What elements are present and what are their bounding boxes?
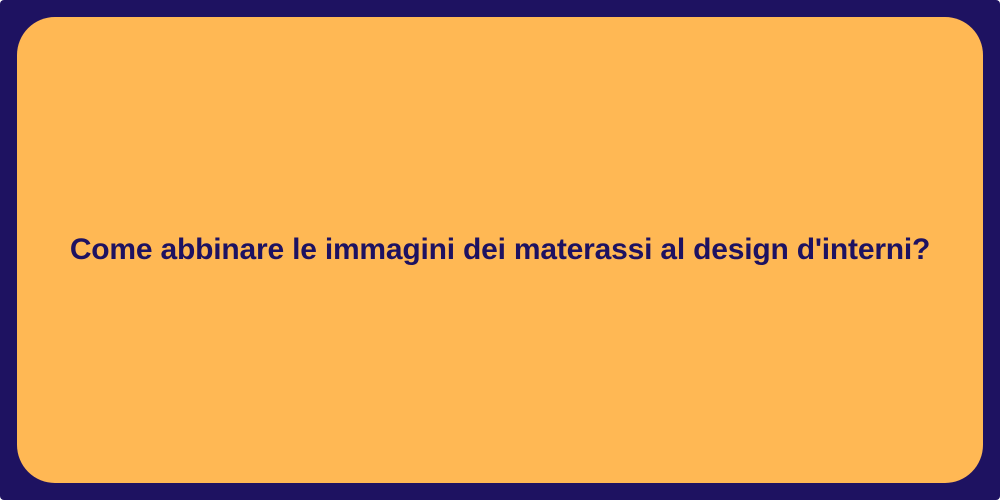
card-frame: Come abbinare le immagini dei materassi … [0, 0, 1000, 500]
page-title: Come abbinare le immagini dei materassi … [70, 231, 930, 269]
card-panel: Come abbinare le immagini dei materassi … [17, 17, 983, 483]
